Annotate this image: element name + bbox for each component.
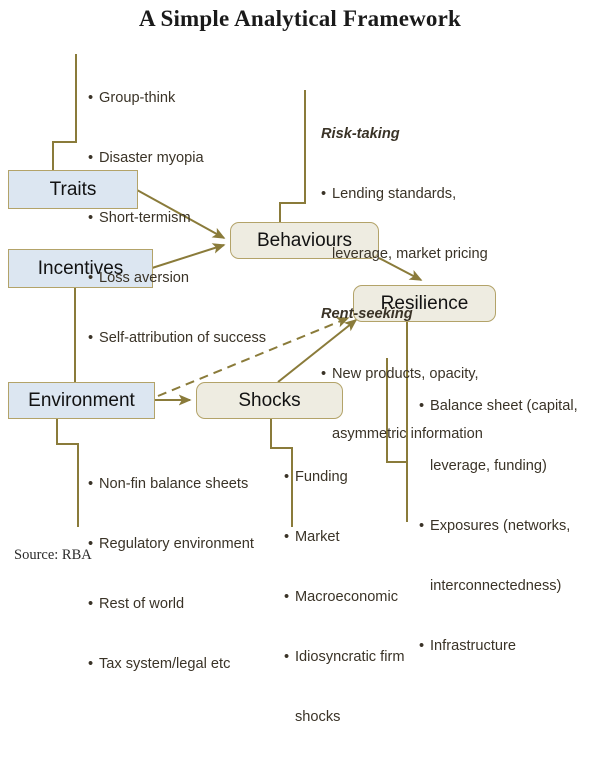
resilience-bullets: •Balance sheet (capital, leverage, fundi…	[419, 356, 578, 696]
list-item: •Market	[284, 527, 404, 547]
list-item: •Loss aversion	[88, 268, 266, 288]
shocks-bullets: •Funding •Market •Macroeconomic •Idiosyn…	[284, 427, 404, 767]
list-item-cont: interconnectedness)	[419, 576, 578, 596]
traits-bullets: •Group-think •Disaster myopia •Short-ter…	[88, 48, 266, 388]
list-item: •Infrastructure	[419, 636, 578, 656]
list-item-cont: shocks	[284, 707, 404, 727]
diagram-canvas: A Simple Analytical Framework	[0, 0, 600, 577]
list-item: •Macroeconomic	[284, 587, 404, 607]
environment-bullets: •Non-fin balance sheets •Regulatory envi…	[88, 434, 254, 714]
list-item: •Funding	[284, 467, 404, 487]
list-item: •Non-fin balance sheets	[88, 474, 254, 494]
list-item: •Balance sheet (capital,	[419, 396, 578, 416]
connector-traits-bullets	[53, 54, 76, 170]
list-item: •Short-termism	[88, 208, 266, 228]
source-caption: Source: RBA	[14, 547, 92, 564]
connector-environment-bullets	[57, 418, 78, 527]
bullet-group-heading-rent-seeking: Rent-seeking	[321, 304, 488, 324]
list-item: •Self-attribution of success	[88, 328, 266, 348]
list-item: •Disaster myopia	[88, 148, 266, 168]
list-item: •Group-think	[88, 88, 266, 108]
list-item: •Rest of world	[88, 594, 254, 614]
list-item-cont: leverage, market pricing	[321, 244, 488, 264]
list-item: •Exposures (networks,	[419, 516, 578, 536]
list-item: •Regulatory environment	[88, 534, 254, 554]
list-item: •Tax system/legal etc	[88, 654, 254, 674]
list-item: •Lending standards,	[321, 184, 488, 204]
list-item: •Idiosyncratic firm	[284, 647, 404, 667]
node-shocks-label: Shocks	[238, 390, 300, 412]
bullet-group-heading-risk-taking: Risk-taking	[321, 124, 488, 144]
node-environment-label: Environment	[28, 390, 135, 412]
list-item-cont: leverage, funding)	[419, 456, 578, 476]
connector-behaviours-bullets	[280, 90, 305, 222]
